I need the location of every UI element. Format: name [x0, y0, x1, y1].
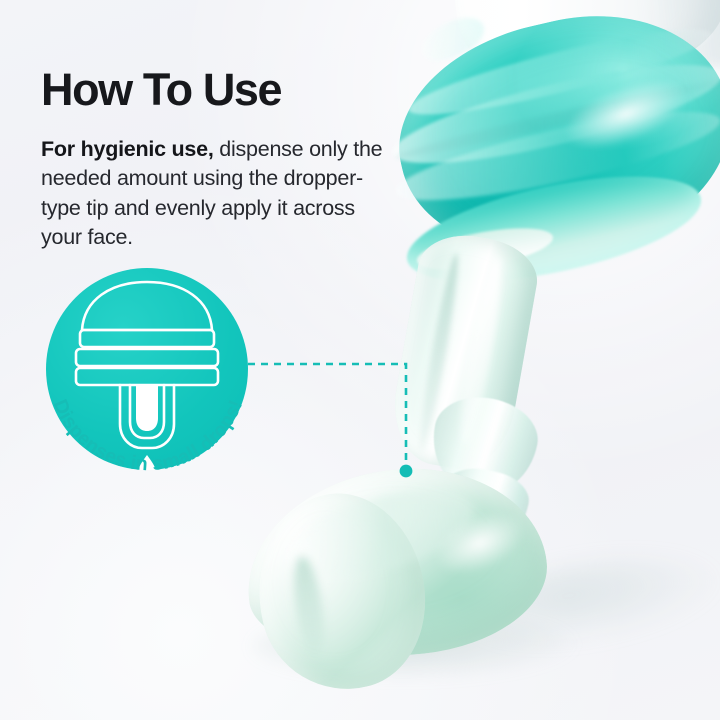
dispenses-badge: Dispenses in small drops! [46, 268, 248, 470]
dropper-inner-nozzle [136, 385, 158, 431]
page-title: How To Use [41, 66, 281, 113]
instruction-paragraph: For hygienic use, dispense only the need… [41, 135, 391, 253]
callout-dashed-line [248, 364, 406, 471]
instruction-lead: For hygienic use, [41, 137, 214, 161]
droplet-icon [138, 455, 156, 470]
how-to-use-graphic: Dispenses in small drops! How To Use For… [0, 0, 720, 720]
dropper-tip-icon [46, 268, 248, 470]
callout-connector [240, 350, 430, 490]
callout-endpoint-dot [400, 465, 413, 478]
